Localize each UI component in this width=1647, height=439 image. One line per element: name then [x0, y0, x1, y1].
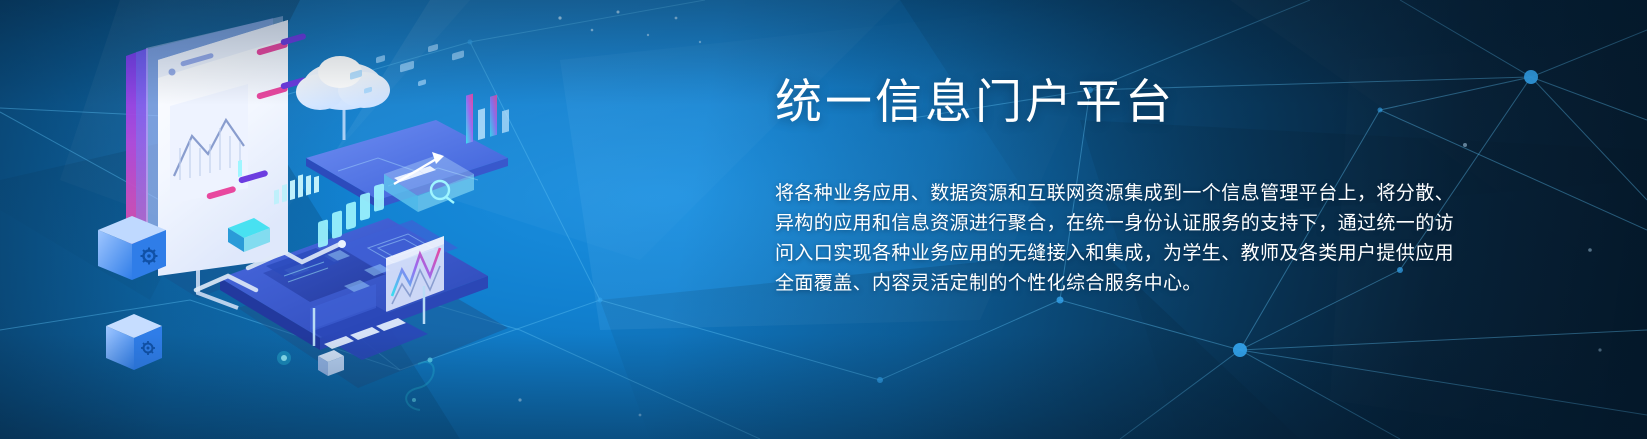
- hero-banner: 统一信息门户平台 将各种业务应用、数据资源和互联网资源集成到一个信息管理平台上，…: [0, 0, 1647, 439]
- banner-description: 将各种业务应用、数据资源和互联网资源集成到一个信息管理平台上，将分散、异构的应用…: [775, 179, 1467, 299]
- page-title: 统一信息门户平台: [775, 78, 1475, 125]
- banner-copy: 统一信息门户平台 将各种业务应用、数据资源和互联网资源集成到一个信息管理平台上，…: [775, 78, 1475, 299]
